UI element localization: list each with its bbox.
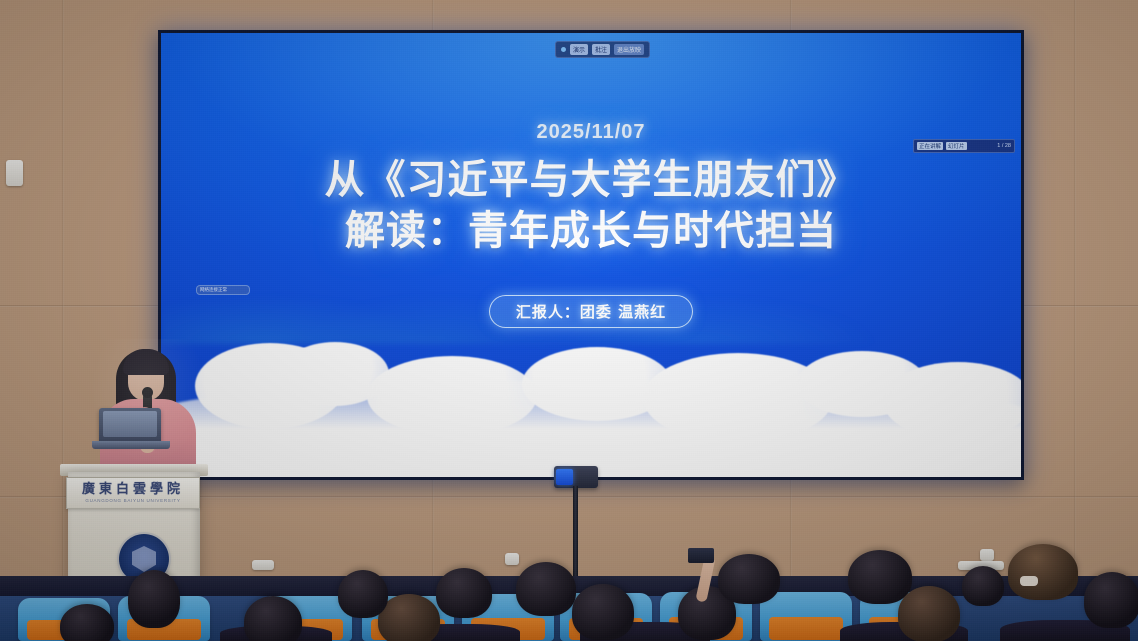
audience-head (244, 596, 302, 641)
podium-name-en: GUANGDONG BAIYUN UNIVERSITY (85, 498, 180, 503)
projection-screen-frame: 演示 批注 退出放映 正在讲解 幻灯片 1 / 28 网络连接正常 2025/1… (158, 30, 1024, 480)
podium-nameplate: 廣東白雲學院 GUANGDONG BAIYUN UNIVERSITY (66, 477, 200, 509)
presentation-toolbar-overlay[interactable]: 演示 批注 退出放映 (555, 41, 650, 58)
audience-head (516, 562, 576, 616)
audience-head (572, 584, 634, 640)
audience-head (718, 554, 780, 604)
slide-title-line2: 解读：青年成长与时代担当 (161, 206, 1021, 257)
presenter-badge: 汇报人：团委 温燕红 (489, 295, 693, 328)
presenter-badge-wrap: 汇报人：团委 温燕红 (161, 295, 1021, 328)
audience-head (1008, 544, 1078, 600)
podium-name-cn: 廣東白雲學院 (82, 483, 184, 496)
slide-title-line1: 从《习近平与大学生朋友们》 (325, 157, 858, 203)
audience-head (898, 586, 960, 641)
audience-head (436, 568, 492, 618)
camera-screen (556, 469, 573, 485)
audience-head (1084, 572, 1138, 628)
audience-head (338, 570, 388, 618)
lecture-hall-scene: 演示 批注 退出放映 正在讲解 幻灯片 1 / 28 网络连接正常 2025/1… (0, 0, 1138, 641)
slide-date: 2025/11/07 (161, 121, 1021, 144)
laptop-base (92, 441, 170, 449)
toolbar-item-3[interactable]: 退出放映 (614, 44, 644, 55)
audience-area (0, 540, 1138, 641)
audience-head (60, 604, 114, 641)
audience-head (128, 570, 180, 628)
toolbar-item-1[interactable]: 批注 (592, 44, 610, 55)
mini-popup-overlay[interactable]: 网络连接正常 (196, 285, 250, 295)
toolbar-item-0[interactable]: 演示 (570, 44, 588, 55)
wall-switch-plate[interactable] (6, 160, 23, 186)
laptop-screen (103, 411, 157, 437)
podium-laptop[interactable] (99, 408, 161, 444)
record-indicator-icon (561, 47, 566, 52)
smartphone-icon (688, 548, 714, 563)
audience-head (848, 550, 912, 604)
slide-title: 从《习近平与大学生朋友们》 解读：青年成长与时代担当 (161, 155, 1021, 257)
eyeglasses-icon (1020, 576, 1038, 586)
camera-body (554, 466, 598, 488)
projected-slide[interactable]: 演示 批注 退出放映 正在讲解 幻灯片 1 / 28 网络连接正常 2025/1… (161, 33, 1021, 477)
audience-head (962, 566, 1004, 606)
mini-popup-text: 网络连接正常 (200, 287, 227, 293)
auditorium-seat (760, 592, 852, 641)
